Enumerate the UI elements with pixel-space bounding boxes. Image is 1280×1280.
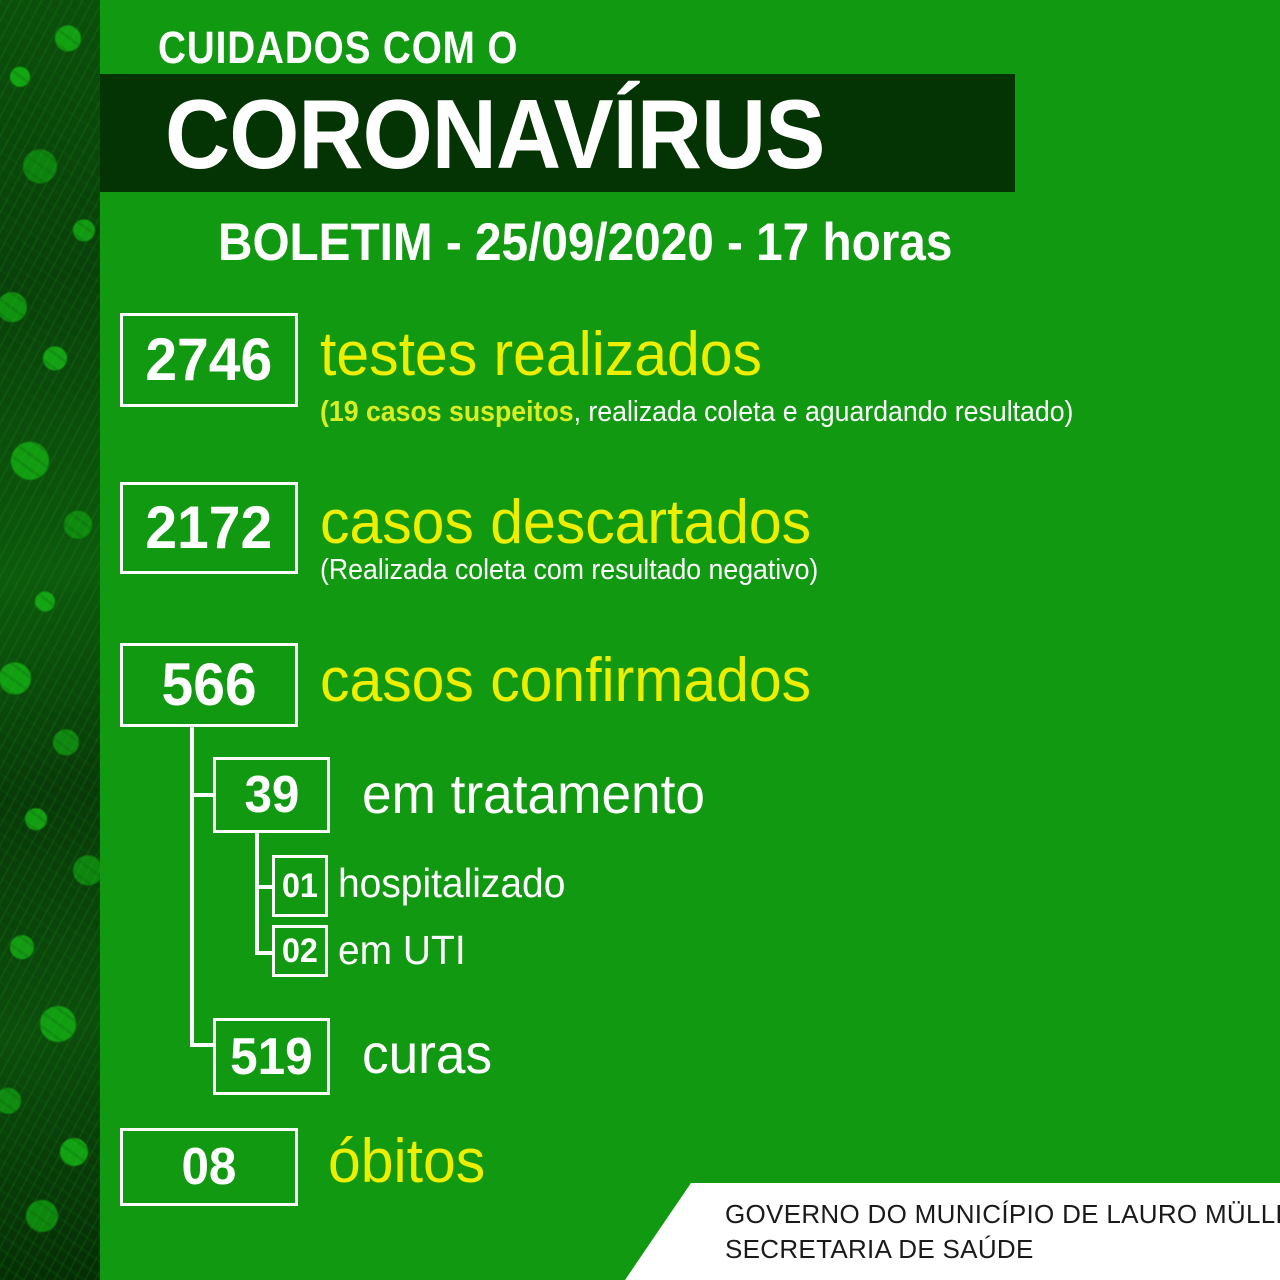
covid-bulletin-poster: CUIDADOS COM O CORONAVÍRUS BOLETIM - 25/… bbox=[0, 0, 1280, 1280]
footer-department-line: SECRETARIA DE SAÚDE bbox=[725, 1234, 1034, 1265]
footer-government-line: GOVERNO DO MUNICÍPIO DE LAURO MÜLLER bbox=[725, 1199, 1280, 1230]
page-title: CORONAVÍRUS bbox=[165, 85, 824, 183]
label-obitos: óbitos bbox=[328, 1126, 485, 1197]
value-box-obitos: 08 bbox=[120, 1128, 298, 1206]
value-em-tratamento: 39 bbox=[244, 769, 299, 821]
sub-testes-realizados: (19 casos suspeitos, realizada coleta e … bbox=[320, 396, 1073, 429]
label-em-uti: em UTI bbox=[338, 927, 466, 974]
sub-highlight-suspeitos: (19 casos suspeitos bbox=[320, 396, 574, 428]
label-hospitalizado: hospitalizado bbox=[338, 860, 565, 907]
value-box-hospitalizado: 01 bbox=[272, 855, 328, 917]
coronavirus-texture-graphic bbox=[0, 0, 100, 1280]
value-casos-confirmados: 566 bbox=[161, 655, 256, 715]
value-hospitalizado: 01 bbox=[282, 869, 318, 903]
header-kicker: CUIDADOS COM O bbox=[158, 22, 518, 74]
value-testes-realizados: 2746 bbox=[146, 330, 273, 390]
value-box-casos-confirmados: 566 bbox=[120, 643, 298, 727]
value-obitos: 08 bbox=[182, 1141, 237, 1193]
label-em-tratamento: em tratamento bbox=[362, 761, 705, 826]
value-box-em-uti: 02 bbox=[272, 925, 328, 977]
label-casos-descartados: casos descartados bbox=[320, 487, 811, 558]
tree-line-main-vertical bbox=[190, 727, 194, 1047]
sub-rest-testes: , realizada coleta e aguardando resultad… bbox=[574, 396, 1074, 428]
value-box-curas: 519 bbox=[213, 1018, 330, 1095]
value-box-testes-realizados: 2746 bbox=[120, 313, 298, 407]
value-box-em-tratamento: 39 bbox=[213, 757, 330, 833]
value-curas: 519 bbox=[230, 1031, 312, 1083]
value-em-uti: 02 bbox=[282, 934, 318, 968]
tree-line-sub-vertical bbox=[255, 833, 259, 955]
label-casos-confirmados: casos confirmados bbox=[320, 645, 811, 716]
sub-casos-descartados: (Realizada coleta com resultado negativo… bbox=[320, 554, 818, 587]
value-casos-descartados: 2172 bbox=[146, 498, 273, 558]
footer-banner bbox=[625, 1183, 1280, 1280]
bulletin-date-line: BOLETIM - 25/09/2020 - 17 horas bbox=[218, 212, 952, 273]
label-curas: curas bbox=[362, 1021, 492, 1086]
label-testes-realizados: testes realizados bbox=[320, 319, 762, 390]
value-box-casos-descartados: 2172 bbox=[120, 482, 298, 574]
